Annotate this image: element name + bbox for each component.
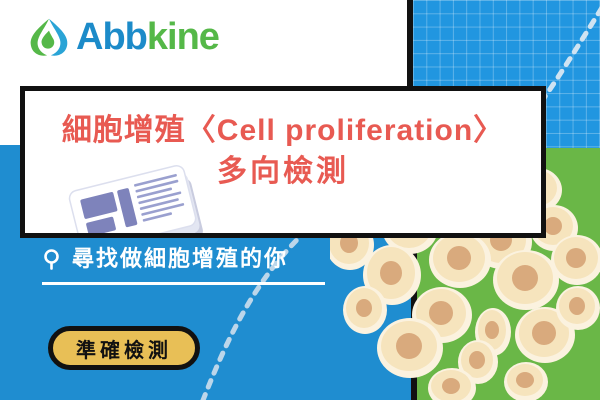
- droplet-leaf-icon: [28, 16, 70, 58]
- brand-wordmark: Abbkine: [76, 18, 219, 56]
- magnifier-icon: [42, 248, 64, 270]
- search-underline: [42, 282, 325, 285]
- search-text: 尋找做細胞增殖的你: [72, 248, 288, 270]
- title-line-1: 細胞增殖〈Cell proliferation〉: [25, 105, 541, 149]
- poster-canvas: Abbkine 細胞增殖〈Cell proliferation〉 多向檢測: [0, 0, 600, 400]
- brand-word-part2: kine: [147, 18, 219, 56]
- brand-word-part1: Abb: [76, 18, 147, 56]
- cta-button[interactable]: 準確檢測: [48, 326, 200, 370]
- brand-logo[interactable]: Abbkine: [28, 16, 219, 58]
- search-line: 尋找做細胞增殖的你: [42, 248, 288, 270]
- document-stack-illustration: [63, 153, 223, 238]
- title-card: 細胞增殖〈Cell proliferation〉 多向檢測: [20, 86, 546, 238]
